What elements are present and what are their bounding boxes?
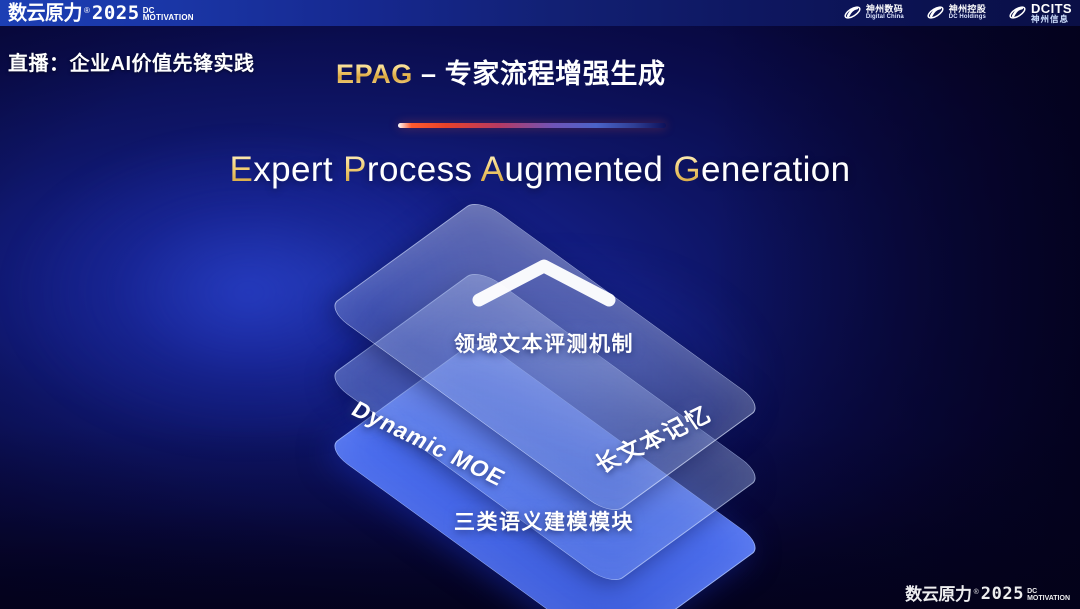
logo-dc-holdings-text: 神州控股 DC Holdings [949, 5, 986, 20]
partner-logos: 神州数码 Digital China 神州控股 DC Holdings [843, 2, 1072, 24]
brand-registered-mark: ® [84, 7, 90, 15]
layer-stack-diagram: 领域文本评测机制 Dynamic MOE 长文本记忆 三类语义建模模块 [244, 218, 844, 578]
watermark-logo: 数云原力 ® 2025 DC MOTIVATION [905, 586, 1070, 603]
watermark-dc-motivation: DC MOTIVATION [1027, 589, 1070, 602]
title-divider [398, 123, 666, 128]
swirl-icon [1008, 3, 1027, 22]
subtitle-part-6: G [673, 150, 701, 189]
page-title-accent: EPAG [336, 59, 413, 89]
subtitle-part-1: xpert [253, 150, 343, 189]
logo-dc-holdings-cn: 神州控股 [949, 5, 986, 14]
live-broadcast-tag: 直播：企业AI价值先锋实践 [8, 47, 255, 76]
watermark-year: 2025 [981, 586, 1024, 603]
logo-dcits-cn: 神州信息 [1031, 15, 1072, 24]
subtitle-expanded: Expert Process Augmented Generation [0, 150, 1080, 190]
watermark-motivation: MOTIVATION [1027, 596, 1070, 602]
logo-dcits-text: DCITS 神州信息 [1031, 2, 1072, 24]
logo-digital-china-text: 神州数码 Digital China [866, 5, 904, 20]
logo-digital-china: 神州数码 Digital China [843, 3, 904, 22]
subtitle-part-0: E [229, 150, 253, 189]
watermark-registered-mark: ® [974, 589, 979, 596]
subtitle-part-5: ugmented [504, 150, 673, 189]
page-title: EPAG – 专家流程增强生成 [336, 52, 666, 91]
subtitle-part-3: rocess [367, 150, 481, 189]
subtitle-part-4: A [481, 150, 505, 189]
top-banner: 数云原力 ® 2025 DC MOTIVATION 神州数码 Digital C… [0, 0, 1080, 26]
subtitle-part-2: P [343, 150, 367, 189]
brand-motivation: MOTIVATION [143, 14, 194, 21]
logo-dcits: DCITS 神州信息 [1008, 2, 1072, 24]
brand-name-cn: 数云原力 [8, 3, 82, 23]
logo-digital-china-cn: 神州数码 [866, 5, 904, 14]
watermark-name-cn: 数云原力 [905, 586, 971, 603]
logo-dc-holdings: 神州控股 DC Holdings [926, 3, 986, 22]
brand-logo: 数云原力 ® 2025 DC MOTIVATION [8, 4, 194, 23]
logo-digital-china-en: Digital China [866, 14, 904, 20]
subtitle-part-7: eneration [701, 150, 851, 189]
swirl-icon [843, 3, 862, 22]
swirl-icon [926, 3, 945, 22]
slide-canvas: 数云原力 ® 2025 DC MOTIVATION 神州数码 Digital C… [0, 0, 1080, 609]
brand-dc-motivation: DC MOTIVATION [143, 7, 194, 22]
brand-year: 2025 [92, 4, 140, 23]
page-title-rest: – 专家流程增强生成 [413, 59, 666, 89]
logo-dc-holdings-en: DC Holdings [949, 14, 986, 20]
